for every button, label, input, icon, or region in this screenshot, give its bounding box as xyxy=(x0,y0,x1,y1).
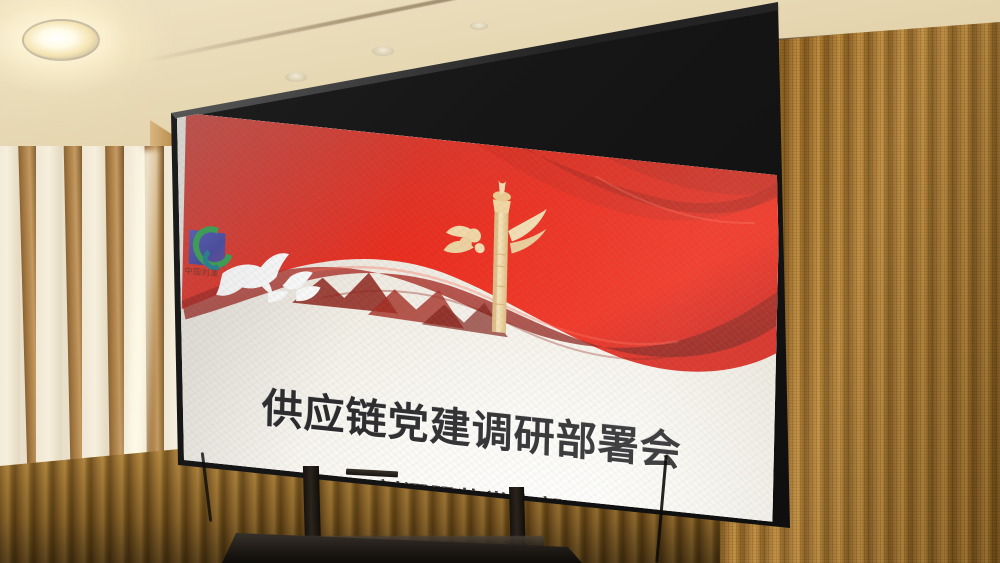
logo-swoosh-icon xyxy=(186,220,241,274)
recessed-downlight-small-3 xyxy=(470,22,488,30)
recessed-downlight-small-2 xyxy=(372,46,394,56)
recessed-downlight xyxy=(22,19,100,61)
logo-inner-swoosh-icon xyxy=(201,246,227,273)
logo-square-shape xyxy=(189,230,226,268)
white-doves xyxy=(216,246,321,307)
huabiao-column xyxy=(442,174,547,337)
meeting-room-scene: 中国刘潭 供应链党建调研部署会 刘潭服装党支部 主持人 颜加芳 时间 2023.… xyxy=(0,0,1000,563)
liutan-company-logo: 中国刘潭 xyxy=(184,223,239,291)
recessed-downlight-small-1 xyxy=(285,72,307,82)
logo-caption: 中国刘潭 xyxy=(184,265,240,282)
